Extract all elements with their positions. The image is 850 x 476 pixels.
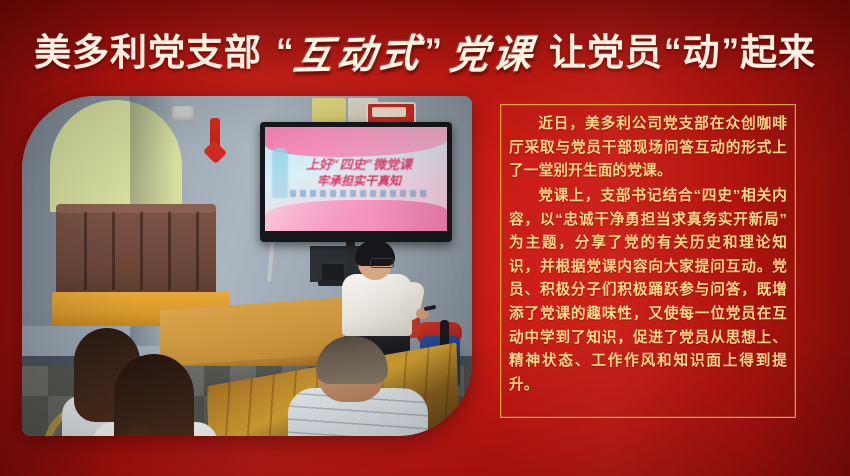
article-paragraph-2: 党课上，支部书记结合“四史”相关内容，以“忠诚干净勇担当求真务实开新局”为主题，…	[509, 185, 787, 398]
event-photo: 上好“四史”微党课 牢承担实干真知	[22, 96, 472, 436]
title-segment-1: 美多利党支部	[34, 34, 262, 71]
title-brush-dangke: 党课	[447, 23, 539, 81]
article-paragraph-1: 近日，美多利公司党支部在众创咖啡厅采取与党员干部现场问答互动的形式上了一堂别开生…	[509, 113, 787, 184]
title-quote-open-2: “	[663, 32, 683, 72]
title-segment-4: 起来	[740, 34, 816, 71]
title-segment-3: 动	[683, 34, 721, 71]
page-title: 美多利党支部 “ 互动式 ” 党课 让党员 “ 动 ” 起来	[0, 18, 850, 86]
article-panel-inner: 近日，美多利公司党支部在众创咖啡厅采取与党员干部现场问答互动的形式上了一堂别开生…	[509, 113, 787, 409]
title-brush-huodongshi: 互动式	[291, 23, 426, 82]
title-segment-2: 让党员	[549, 34, 663, 71]
photo-vignette	[22, 96, 472, 436]
title-quote-close: ”	[424, 32, 444, 72]
poster-canvas: 美多利党支部 “ 互动式 ” 党课 让党员 “ 动 ” 起来	[0, 0, 850, 476]
title-quote-close-2: ”	[721, 32, 741, 72]
article-panel: 近日，美多利公司党支部在众创咖啡厅采取与党员干部现场问答互动的形式上了一堂别开生…	[500, 104, 796, 418]
